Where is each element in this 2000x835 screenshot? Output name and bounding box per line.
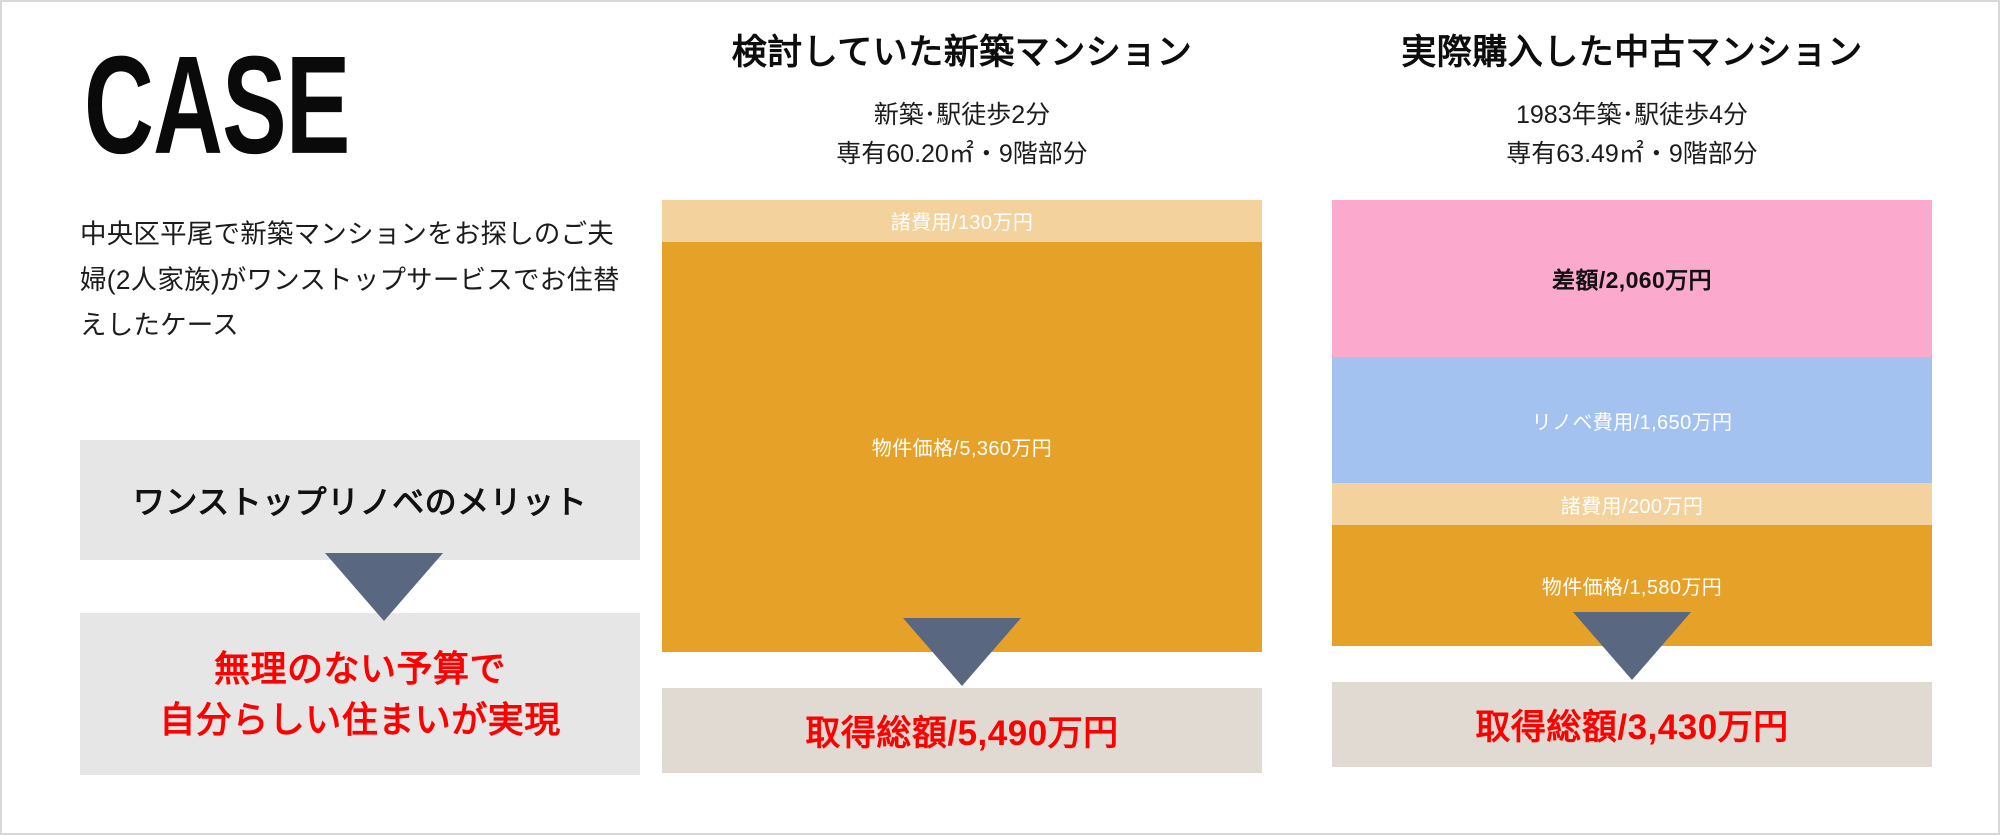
left-panel: CASE 中央区平尾で新築マンションをお探しのご夫婦(2人家族)がワンストップサ… bbox=[80, 28, 650, 808]
column-subtitle: 新築･駅徒歩2分 専有60.20㎡・9階部分 bbox=[662, 96, 1262, 174]
bar-segment: 諸費用/200万円 bbox=[1332, 483, 1932, 525]
column-title: 検討していた新築マンション bbox=[662, 32, 1262, 74]
result-box-line1: 無理のない予算で bbox=[214, 643, 506, 694]
column-subtitle: 1983年築･駅徒歩4分 専有63.49㎡・9階部分 bbox=[1332, 96, 1932, 174]
stacked-bar-chart: 諸費用/130万円物件価格/5,360万円取得総額/5,490万円 bbox=[662, 200, 1262, 773]
total-bar: 取得総額/3,430万円 bbox=[1332, 682, 1932, 767]
total-bar-label: 取得総額/5,490万円 bbox=[805, 705, 1118, 756]
down-triangle-icon bbox=[325, 553, 443, 621]
column-used: 実際購入した中古マンション 1983年築･駅徒歩4分 専有63.49㎡・9階部分… bbox=[1332, 32, 1932, 767]
column-subtitle-line2: 専有60.20㎡・9階部分 bbox=[662, 135, 1262, 174]
bar-stack: 諸費用/130万円物件価格/5,360万円 bbox=[662, 200, 1262, 652]
case-comparison-page: CASE 中央区平尾で新築マンションをお探しのご夫婦(2人家族)がワンストップサ… bbox=[0, 0, 2000, 835]
merit-box: ワンストップリノベのメリット bbox=[80, 440, 640, 560]
column-subtitle-line1: 1983年築･駅徒歩4分 bbox=[1332, 96, 1932, 135]
bar-segment-label: 諸費用/130万円 bbox=[891, 206, 1034, 235]
total-bar: 取得総額/5,490万円 bbox=[662, 688, 1262, 773]
page-title: CASE bbox=[84, 36, 548, 175]
bar-segment: 物件価格/5,360万円 bbox=[662, 242, 1262, 652]
bar-segment-label: 差額/2,060万円 bbox=[1552, 261, 1712, 295]
column-title: 実際購入した中古マンション bbox=[1332, 32, 1932, 74]
column-subtitle-line2: 専有63.49㎡・9階部分 bbox=[1332, 135, 1932, 174]
bar-segment-label: 物件価格/5,360万円 bbox=[872, 432, 1052, 461]
column-subtitle-line1: 新築･駅徒歩2分 bbox=[662, 96, 1262, 135]
result-box-line2: 自分らしい住まいが実現 bbox=[159, 694, 561, 745]
merit-box-label: ワンストップリノベのメリット bbox=[133, 477, 587, 523]
case-description: 中央区平尾で新築マンションをお探しのご夫婦(2人家族)がワンストップサービスでお… bbox=[80, 212, 640, 349]
bar-segment: リノベ費用/1,650万円 bbox=[1332, 357, 1932, 483]
down-triangle-icon bbox=[903, 618, 1021, 686]
bar-segment: 差額/2,060万円 bbox=[1332, 200, 1932, 358]
total-bar-label: 取得総額/3,430万円 bbox=[1475, 699, 1788, 750]
stacked-bar-chart: 差額/2,060万円リノベ費用/1,650万円諸費用/200万円物件価格/1,5… bbox=[1332, 200, 1932, 768]
bar-segment-label: リノベ費用/1,650万円 bbox=[1532, 406, 1733, 435]
result-box: 無理のない予算で 自分らしい住まいが実現 bbox=[80, 613, 640, 775]
bar-segment-label: 物件価格/1,580万円 bbox=[1542, 571, 1722, 600]
bar-segment-label: 諸費用/200万円 bbox=[1561, 490, 1704, 519]
column-new-build: 検討していた新築マンション 新築･駅徒歩2分 専有60.20㎡・9階部分 諸費用… bbox=[662, 32, 1262, 773]
down-triangle-icon bbox=[1573, 612, 1691, 680]
bar-stack: 差額/2,060万円リノベ費用/1,650万円諸費用/200万円物件価格/1,5… bbox=[1332, 200, 1932, 647]
bar-segment: 諸費用/130万円 bbox=[662, 200, 1262, 242]
